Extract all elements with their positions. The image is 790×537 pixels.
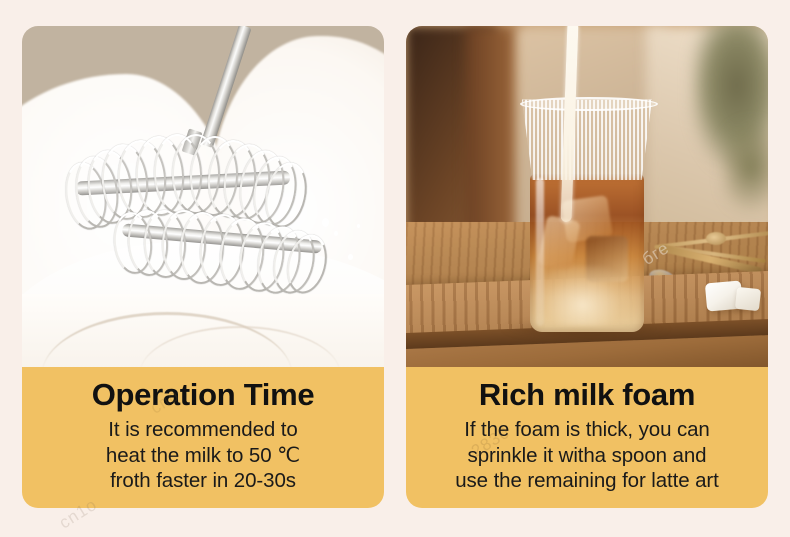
glass-body-coffee [530,174,644,332]
caption-line: use the remaining for latte art [455,468,719,494]
background-foliage [724,122,768,212]
glass-rim-top-ellipse [520,97,658,111]
sugar-cube [735,287,761,311]
caption-operation-time: Operation Time It is recommended to heat… [22,367,384,508]
caption-title: Rich milk foam [479,376,695,414]
twine-knot [706,232,726,245]
milk-droplet [348,254,353,260]
glass-highlight [536,178,544,326]
caption-line: heat the milk to 50 ℃ [106,443,300,469]
ribbed-glass [522,98,652,336]
caption-rich-milk-foam: Rich milk foam If the foam is thick, you… [406,367,768,508]
photo-milk-frother-whisk [22,26,384,367]
caption-body: It is recommended to heat the milk to 50… [106,417,300,494]
caption-line: froth faster in 20-30s [106,468,300,494]
feature-card: спо [0,0,790,537]
milk-droplet [334,231,338,236]
caption-body: If the foam is thick, you can sprinkle i… [455,417,719,494]
panel-operation-time[interactable]: Operation Time It is recommended to heat… [22,26,384,508]
caption-title: Operation Time [92,376,315,414]
caption-line: sprinkle it witha spoon and [455,443,719,469]
caption-line: If the foam is thick, you can [455,417,719,443]
milk-swirl [544,266,630,326]
caption-line: It is recommended to [106,417,300,443]
panel-row: Operation Time It is recommended to heat… [22,26,768,508]
whisk-coil-cluster-lower [114,176,334,316]
panel-rich-milk-foam[interactable]: бге Rich milk foam If the foam is thick,… [406,26,768,508]
photo-iced-latte-glass: бге [406,26,768,367]
milk-droplet [357,224,360,228]
